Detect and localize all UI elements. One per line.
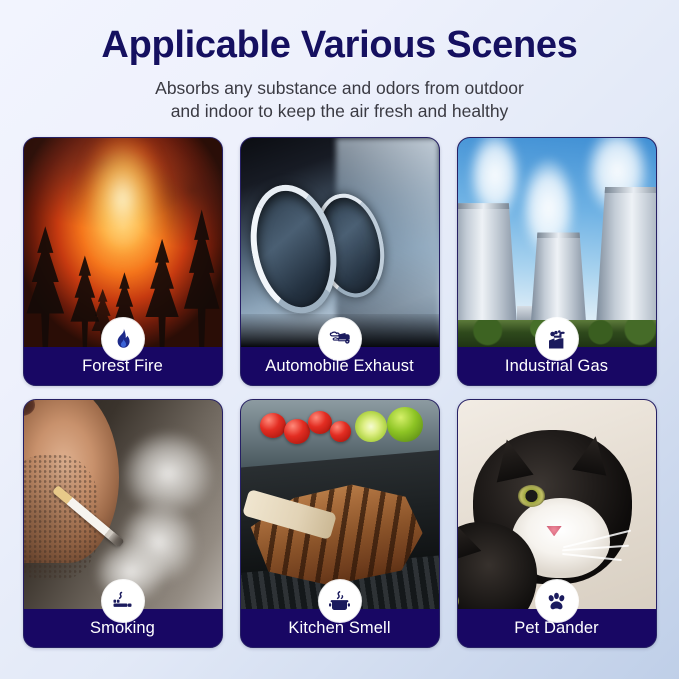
flame-icon	[102, 318, 144, 360]
cooling-tower	[458, 203, 517, 324]
page-title: Applicable Various Scenes	[0, 26, 679, 66]
tomato	[284, 419, 310, 444]
cigarette-icon	[102, 580, 144, 622]
cooling-tower	[531, 232, 586, 324]
cooking-pot-icon	[319, 580, 361, 622]
page-subtitle: Absorbs any substance and odors from out…	[0, 77, 679, 124]
scene-card-smoking[interactable]: Smoking	[23, 399, 223, 648]
kitchen-smell-photo	[241, 400, 439, 609]
car-exhaust-icon	[319, 318, 361, 360]
scene-card-industrial-gas[interactable]: Industrial Gas	[457, 137, 657, 386]
pet-dander-photo	[458, 400, 656, 609]
scenes-grid: Forest Fire	[23, 137, 657, 648]
cat-eye	[458, 593, 459, 608]
cat-ear	[572, 433, 613, 476]
tomato	[308, 411, 332, 434]
subtitle-line-1: Absorbs any substance and odors from out…	[0, 77, 679, 100]
cat-eye	[518, 485, 545, 507]
cat-ear	[489, 435, 535, 482]
factory-icon	[536, 318, 578, 360]
lime-whole	[387, 407, 423, 443]
tomato	[260, 413, 286, 438]
subtitle-line-2: and indoor to keep the air fresh and hea…	[0, 100, 679, 123]
infographic-page: Applicable Various Scenes Absorbs any su…	[0, 0, 679, 679]
scene-card-automobile-exhaust[interactable]: Automobile Exhaust	[240, 137, 440, 386]
scene-card-forest-fire[interactable]: Forest Fire	[23, 137, 223, 386]
paw-print-icon	[536, 580, 578, 622]
cooling-tower	[596, 187, 655, 325]
scene-card-pet-dander[interactable]: Pet Dander	[457, 399, 657, 648]
scene-card-kitchen-smell[interactable]: Kitchen Smell	[240, 399, 440, 648]
industrial-gas-photo	[458, 138, 656, 347]
mouth	[24, 400, 36, 416]
cat-ear	[458, 520, 482, 561]
automobile-exhaust-photo	[241, 138, 439, 347]
forest-fire-photo	[24, 138, 222, 347]
smoking-photo	[24, 400, 222, 609]
lime-half	[355, 411, 387, 442]
header: Applicable Various Scenes Absorbs any su…	[0, 0, 679, 123]
